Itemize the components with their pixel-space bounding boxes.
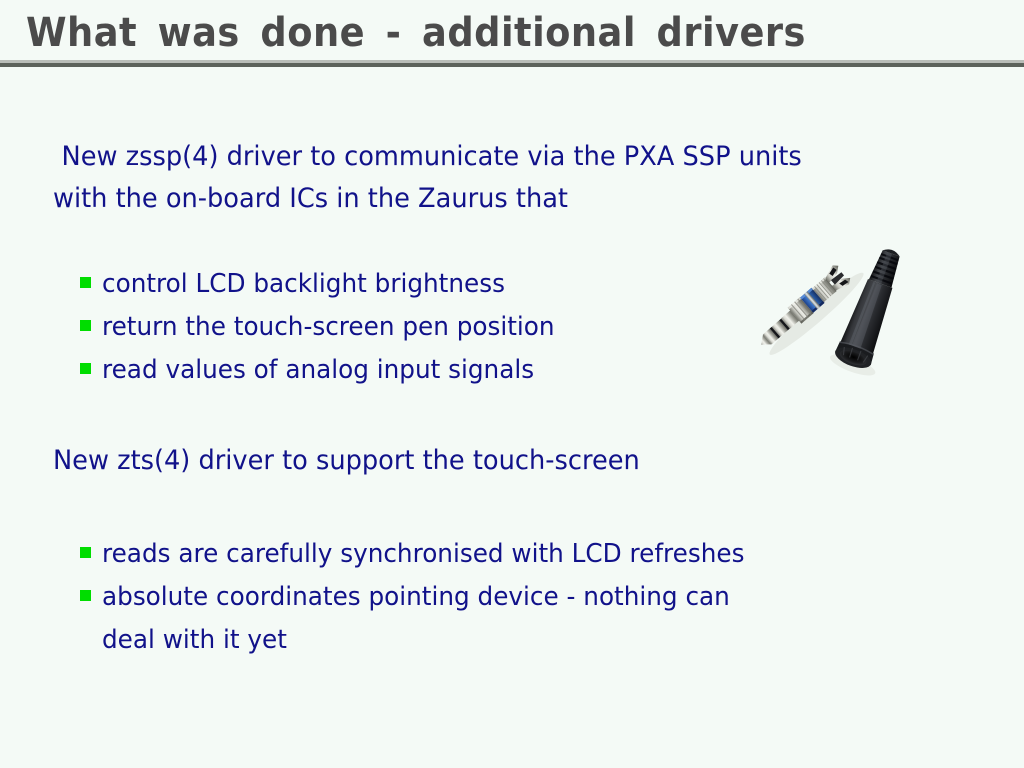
paragraph-zssp-line-1: New zssp(4) driver to communicate via th… [53, 136, 946, 178]
paragraph-zssp-line-2: with the on-board ICs in the Zaurus that [53, 178, 946, 220]
list-item: read values of analog input signals [80, 349, 760, 392]
list-item: return the touch-screen pen position [80, 306, 760, 349]
bullet-list-zssp: control LCD backlight brightness return … [80, 263, 760, 392]
paragraph-zts-line-1: New zts(4) driver to support the touch-s… [53, 440, 908, 482]
list-item: control LCD backlight brightness [80, 263, 760, 306]
list-item-label: read values of analog input signals [102, 349, 534, 392]
list-item: absolute coordinates pointing device - n… [80, 576, 960, 662]
list-item-label: control LCD backlight brightness [102, 263, 505, 306]
title-divider [0, 60, 1024, 67]
bullet-list-zts: reads are carefully synchronised with LC… [80, 533, 960, 662]
paragraph-zssp: New zssp(4) driver to communicate via th… [53, 136, 946, 220]
audio-jack-photo [748, 228, 934, 386]
page-title: What was done - additional drivers [26, 9, 806, 57]
list-item-label: return the touch-screen pen position [102, 306, 555, 349]
list-item-label: absolute coordinates pointing device - n… [102, 576, 730, 662]
square-bullet-icon [80, 590, 91, 601]
list-item: reads are carefully synchronised with LC… [80, 533, 960, 576]
title-divider-shadow [0, 63, 1024, 67]
slide-root: What was done - additional drivers New z… [0, 0, 1024, 768]
square-bullet-icon [80, 547, 91, 558]
paragraph-zts: New zts(4) driver to support the touch-s… [53, 440, 908, 482]
square-bullet-icon [80, 277, 91, 288]
square-bullet-icon [80, 363, 91, 374]
list-item-label: reads are carefully synchronised with LC… [102, 533, 744, 576]
square-bullet-icon [80, 320, 91, 331]
